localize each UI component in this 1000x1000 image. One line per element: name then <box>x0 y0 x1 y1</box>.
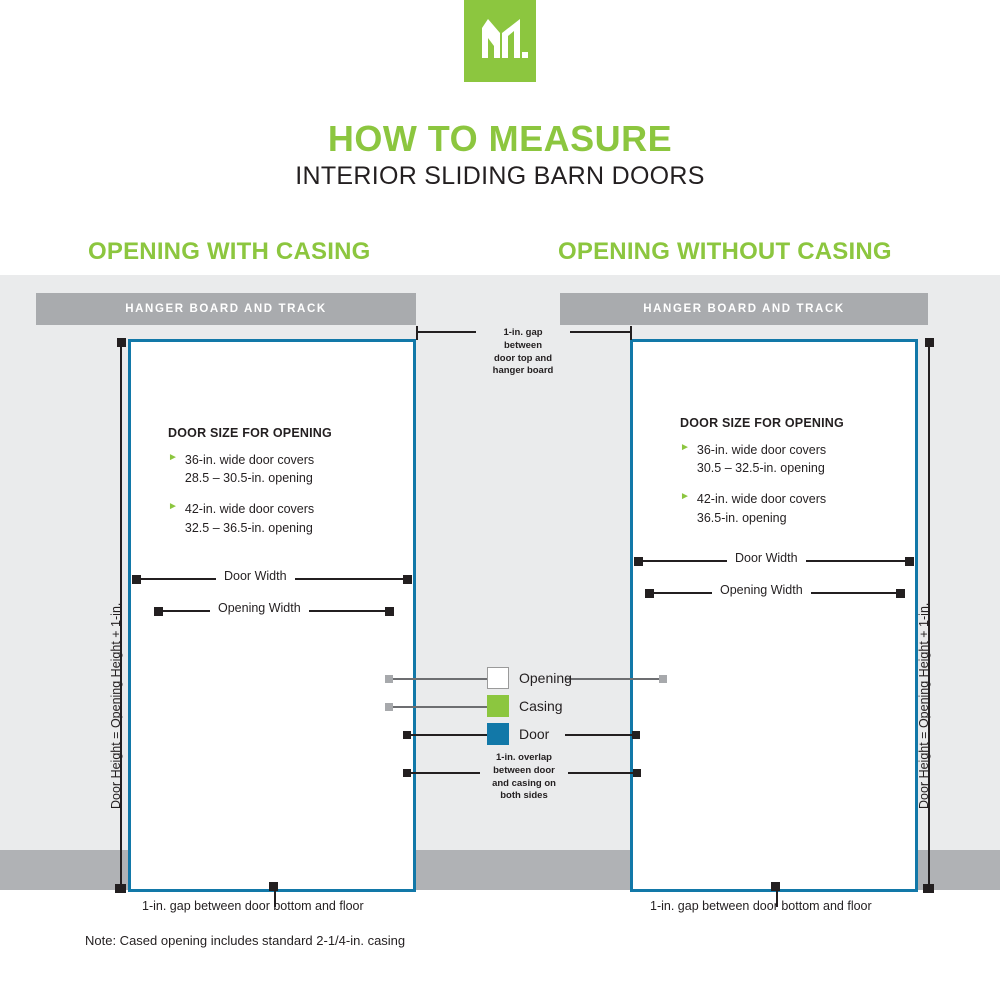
door-width-label-left: Door Width <box>216 569 295 583</box>
callout-bullet-text: 42-in. wide door covers 32.5 – 36.5-in. … <box>185 500 314 536</box>
door-size-callout-left: DOOR SIZE FOR OPENING ► 36-in. wide door… <box>168 424 383 550</box>
dimension-cap <box>117 338 126 347</box>
hanger-board-right: HANGER BOARD AND TRACK <box>560 293 928 325</box>
legend-leader-opening-left <box>392 678 487 680</box>
floor-gap-cap-right-edge <box>923 884 932 893</box>
opening-width-dimension-left: Opening Width <box>155 610 393 612</box>
triangle-right-icon: ► <box>168 451 178 487</box>
callout-bullet-text: 36-in. wide door covers 28.5 – 30.5-in. … <box>185 451 314 487</box>
door-width-dimension-right: Door Width <box>635 560 913 562</box>
legend-item-casing: Casing <box>487 695 563 717</box>
callout-bullet-text: 42-in. wide door covers 36.5-in. opening <box>697 490 826 526</box>
legend-swatch-opening <box>487 667 509 689</box>
legend-swatch-door <box>487 723 509 745</box>
legend-leader-opening-right <box>565 678 660 680</box>
legend-leader-door-left <box>410 734 487 736</box>
leader-marker <box>403 731 411 739</box>
floor-gap-note-right: 1-in. gap between door bottom and floor <box>650 899 872 913</box>
dimension-cap <box>925 338 934 347</box>
legend-leader-casing-left <box>392 706 487 708</box>
callout-bullet: ► 36-in. wide door covers 30.5 – 32.5-in… <box>680 441 895 477</box>
leader-marker <box>659 675 667 683</box>
height-dimension-line-right: Door Height = Opening Height + 1-in. <box>928 339 930 892</box>
section-heading-with-casing: OPENING WITH CASING <box>88 238 370 266</box>
top-gap-tick-right <box>630 326 632 340</box>
hanger-board-left: HANGER BOARD AND TRACK <box>36 293 416 325</box>
opening-width-label-right: Opening Width <box>712 583 811 597</box>
top-gap-note: 1-in. gap between door top and hanger bo… <box>470 327 576 378</box>
footer-note: Note: Cased opening includes standard 2-… <box>85 933 405 948</box>
legend-swatch-casing <box>487 695 509 717</box>
callout-bullet: ► 42-in. wide door covers 36.5-in. openi… <box>680 490 895 526</box>
legend-label-opening: Opening <box>519 670 572 686</box>
dimension-cap <box>403 575 412 584</box>
triangle-right-icon: ► <box>680 490 690 526</box>
top-gap-leader-right <box>570 331 630 333</box>
top-gap-leader-left <box>416 331 476 333</box>
door-width-dimension-left: Door Width <box>133 578 411 580</box>
dimension-cap <box>645 589 654 598</box>
door-size-callout-right: DOOR SIZE FOR OPENING ► 36-in. wide door… <box>680 414 895 540</box>
page-title: HOW TO MEASURE <box>0 118 1000 160</box>
dimension-cap <box>896 589 905 598</box>
dimension-cap <box>132 575 141 584</box>
opening-width-dimension-right: Opening Width <box>646 592 904 594</box>
height-dimension-label-right: Door Height = Opening Height + 1-in. <box>917 603 931 809</box>
section-heading-without-casing: OPENING WITHOUT CASING <box>558 238 892 266</box>
overlap-note: 1-in. overlap between door and casing on… <box>470 752 578 803</box>
floor-gap-cap-left-edge <box>115 884 124 893</box>
callout-bullet: ► 36-in. wide door covers 28.5 – 30.5-in… <box>168 451 383 487</box>
opening-width-label-left: Opening Width <box>210 601 309 615</box>
legend-item-door: Door <box>487 723 549 745</box>
page-subtitle: INTERIOR SLIDING BARN DOORS <box>0 162 1000 191</box>
dimension-cap <box>905 557 914 566</box>
dimension-cap <box>634 557 643 566</box>
callout-title-left: DOOR SIZE FOR OPENING <box>168 424 383 442</box>
top-gap-tick-left <box>416 326 418 340</box>
leader-marker <box>632 731 640 739</box>
dimension-cap <box>154 607 163 616</box>
callout-bullet-text: 36-in. wide door covers 30.5 – 32.5-in. … <box>697 441 826 477</box>
floor-gap-note-left: 1-in. gap between door bottom and floor <box>142 899 364 913</box>
legend-item-opening: Opening <box>487 667 572 689</box>
height-dimension-label-left: Door Height = Opening Height + 1-in. <box>109 603 123 809</box>
legend-label-door: Door <box>519 726 549 742</box>
legend-leader-door-right <box>565 734 633 736</box>
triangle-right-icon: ► <box>680 441 690 477</box>
leader-marker <box>385 675 393 683</box>
triangle-right-icon: ► <box>168 500 178 536</box>
dimension-cap <box>385 607 394 616</box>
floor-gap-cap-right <box>771 882 780 891</box>
leader-marker <box>633 769 641 777</box>
legend-label-casing: Casing <box>519 698 563 714</box>
callout-bullet: ► 42-in. wide door covers 32.5 – 36.5-in… <box>168 500 383 536</box>
door-width-label-right: Door Width <box>727 551 806 565</box>
brand-logo <box>464 0 536 82</box>
callout-title-right: DOOR SIZE FOR OPENING <box>680 414 895 432</box>
floor-gap-cap-left <box>269 882 278 891</box>
leader-marker <box>385 703 393 711</box>
leader-marker <box>403 769 411 777</box>
height-dimension-line-left: Door Height = Opening Height + 1-in. <box>120 339 122 892</box>
